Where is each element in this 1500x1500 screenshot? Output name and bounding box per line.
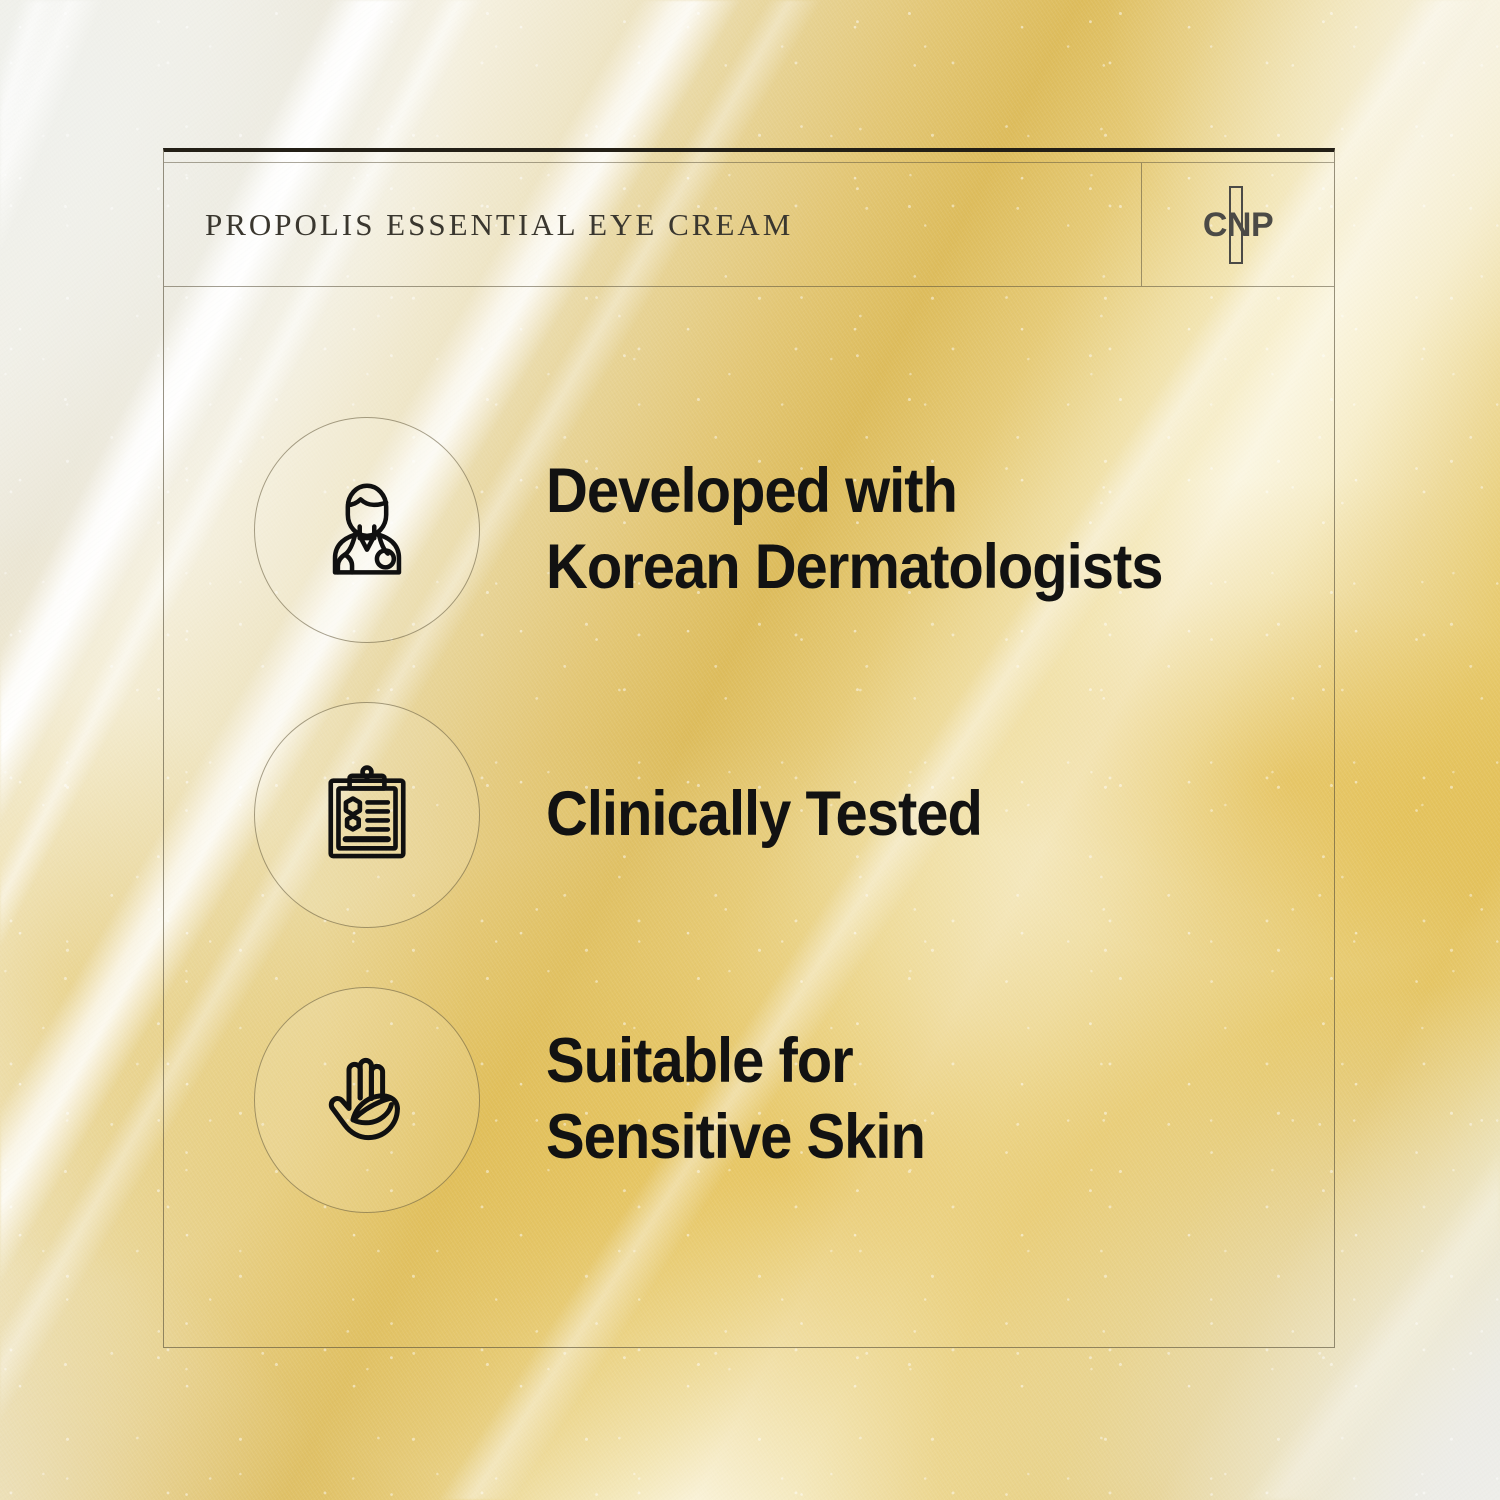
feature-icon-badge	[254, 702, 480, 928]
feature-item: Suitable for Sensitive Skin	[254, 987, 1304, 1213]
feature-label: Suitable for Sensitive Skin	[546, 1024, 925, 1175]
page-title: PROPOLIS ESSENTIAL EYE CREAM	[205, 207, 793, 243]
cnp-logo: CNP	[1178, 181, 1298, 269]
hand-leaf-icon	[307, 1040, 427, 1160]
brand-logo-cell: CNP	[1141, 163, 1334, 286]
content-frame: PROPOLIS ESSENTIAL EYE CREAM CNP	[163, 148, 1335, 1348]
feature-label: Clinically Tested	[546, 777, 982, 853]
header-bar: PROPOLIS ESSENTIAL EYE CREAM CNP	[164, 162, 1334, 287]
feature-item: Clinically Tested	[254, 702, 1304, 928]
feature-icon-badge	[254, 417, 480, 643]
clipboard-test-report-icon	[309, 757, 425, 873]
product-feature-graphic: PROPOLIS ESSENTIAL EYE CREAM CNP	[0, 0, 1500, 1500]
feature-icon-badge	[254, 987, 480, 1213]
feature-list: Developed with Korean Dermatologists	[164, 287, 1334, 1347]
header-title-cell: PROPOLIS ESSENTIAL EYE CREAM	[164, 163, 1141, 286]
feature-item: Developed with Korean Dermatologists	[254, 417, 1304, 643]
doctor-stethoscope-icon	[308, 471, 426, 589]
cnp-logo-vertical-bar-icon	[1229, 186, 1243, 264]
feature-label: Developed with Korean Dermatologists	[546, 454, 1162, 605]
